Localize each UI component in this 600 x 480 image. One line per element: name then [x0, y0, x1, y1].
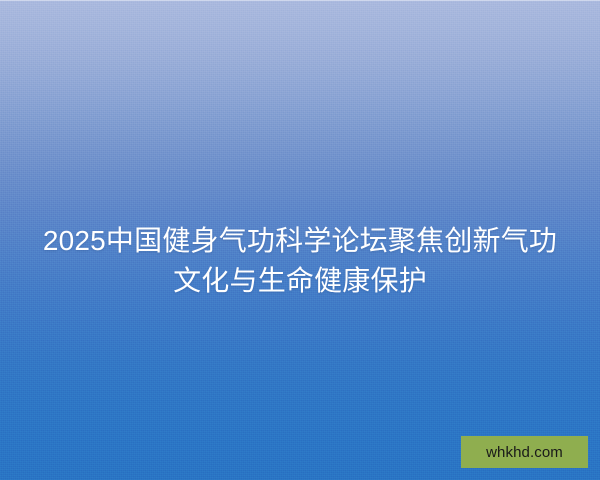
watermark-badge: whkhd.com [461, 436, 588, 468]
watermark-label: whkhd.com [486, 445, 563, 460]
hero-banner-canvas: 2025中国健身气功科学论坛聚焦创新气功文化与生命健康保护 whkhd.com [0, 0, 600, 480]
page-title: 2025中国健身气功科学论坛聚焦创新气功文化与生命健康保护 [34, 221, 566, 301]
